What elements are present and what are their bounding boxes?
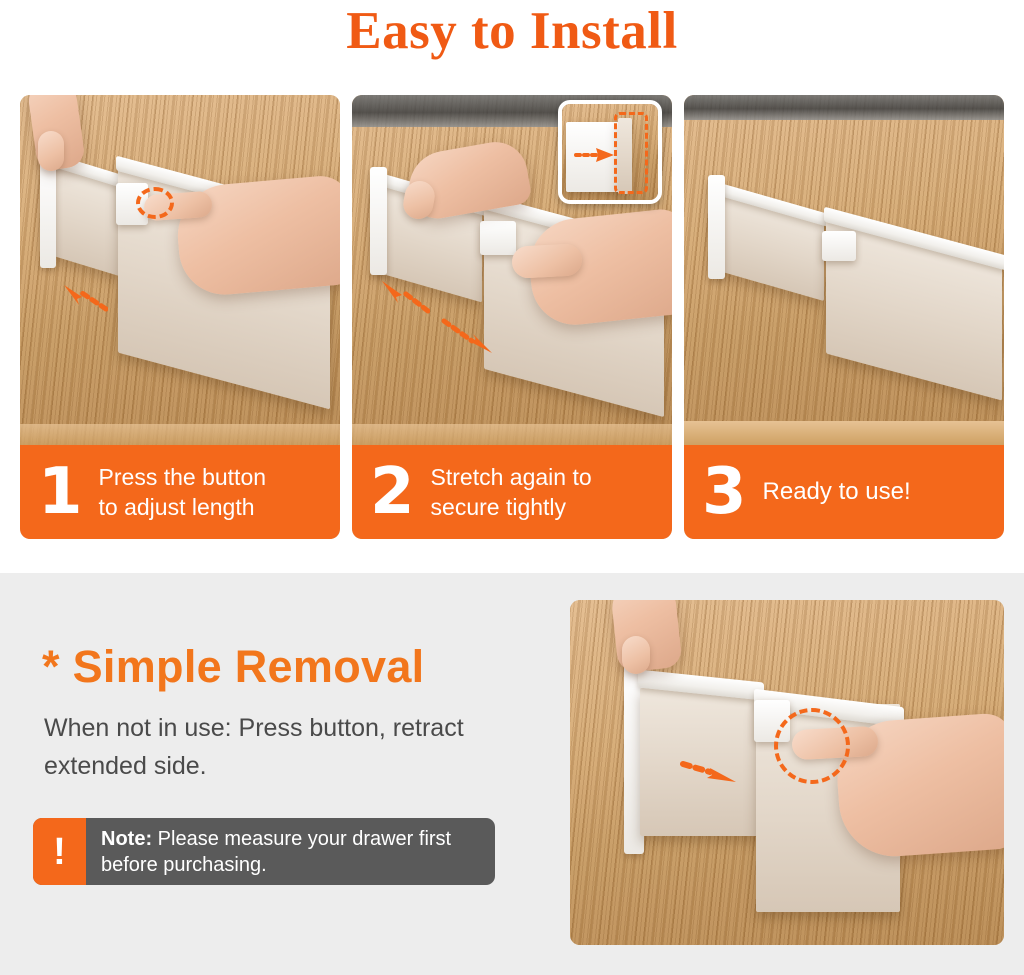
step-card-2: 2 Stretch again to secure tightly <box>352 95 672 539</box>
step-1-caption: 1 Press the button to adjust length <box>20 445 340 539</box>
removal-photo <box>570 600 1004 945</box>
divider-endcap-left <box>40 158 56 268</box>
step-1-line1: Press the button <box>99 464 267 490</box>
divider-endcap-left <box>708 175 725 279</box>
finger-top <box>622 636 650 674</box>
step-3-photo <box>684 95 1004 445</box>
drawer-front-rail <box>352 424 672 445</box>
note-label: Note: <box>101 828 152 850</box>
up-left-dashed-arrow <box>378 279 430 315</box>
note-text: Note: Please measure your drawer first b… <box>86 818 495 885</box>
slider-joint-block <box>480 221 516 255</box>
up-left-arrow-icon <box>378 279 430 315</box>
right-arrow-icon <box>680 758 738 784</box>
step-2-text: Stretch again to secure tightly <box>431 462 592 522</box>
steps-row: 1 Press the button to adjust length <box>20 95 1004 539</box>
down-right-dashed-arrow <box>440 317 496 355</box>
step-2-photo <box>352 95 672 445</box>
button-highlight-circle <box>136 187 174 219</box>
removal-heading: * Simple Removal <box>42 641 424 693</box>
step-1-number: 1 <box>38 460 83 524</box>
step-card-1: 1 Press the button to adjust length <box>20 95 340 539</box>
step-2-number: 2 <box>370 460 415 524</box>
step-3-text: Ready to use! <box>763 477 911 507</box>
step-1-text: Press the button to adjust length <box>99 462 267 522</box>
drawer-front-rail <box>684 421 1004 446</box>
simple-removal-section: * Simple Removal When not in use: Press … <box>0 573 1024 975</box>
inset-right-arrow <box>574 146 616 164</box>
step-3-caption: 3 Ready to use! <box>684 445 1004 539</box>
inset-dashed-outline <box>614 112 648 194</box>
step-2-line2: secure tightly <box>431 494 567 520</box>
product-infographic: Easy to Install <box>0 0 1024 975</box>
divider-endcap-left <box>370 167 387 275</box>
step-1-line2: to adjust length <box>99 494 255 520</box>
exclamation-icon: ! <box>33 818 86 885</box>
step-2-caption: 2 Stretch again to secure tightly <box>352 445 672 539</box>
down-right-arrow-icon <box>440 317 496 355</box>
page-title: Easy to Install <box>0 0 1024 62</box>
left-dashed-arrow <box>60 283 108 313</box>
removal-body-line1: When not in use: Press button, retract <box>44 714 464 742</box>
left-arrow-icon <box>60 283 108 313</box>
inset-closeup <box>558 100 662 204</box>
removal-body-text: When not in use: Press button, retract e… <box>44 709 556 785</box>
drawer-front-rail <box>20 424 340 445</box>
removal-body-line2: extended side. <box>44 752 207 780</box>
note-banner: ! Note: Please measure your drawer first… <box>33 818 495 885</box>
fingers-right <box>511 243 583 279</box>
right-dashed-arrow <box>680 758 738 784</box>
install-steps-section: Easy to Install <box>0 0 1024 573</box>
drawer-back-edge <box>684 95 1004 120</box>
right-arrow-icon <box>574 146 616 164</box>
step-1-photo <box>20 95 340 445</box>
note-body: Please measure your drawer first before … <box>101 828 451 876</box>
step-3-number: 3 <box>702 460 747 524</box>
step-card-3: 3 Ready to use! <box>684 95 1004 539</box>
finger-left <box>38 131 64 171</box>
slider-joint-block <box>822 231 856 261</box>
button-highlight-circle <box>774 708 850 784</box>
step-2-line1: Stretch again to <box>431 464 592 490</box>
